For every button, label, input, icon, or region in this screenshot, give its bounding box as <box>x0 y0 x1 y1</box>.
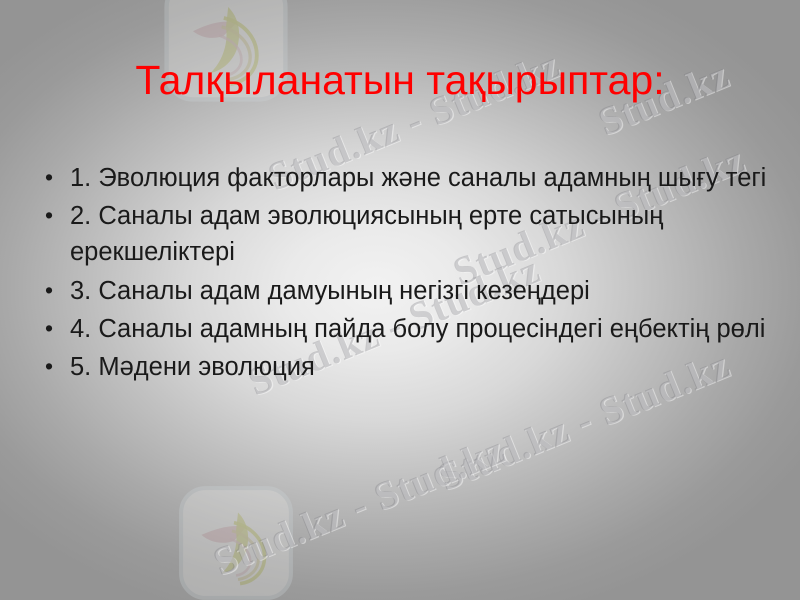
list-item-label: 3. Саналы адам дамуының негізгі кезеңдер… <box>70 273 770 309</box>
stud-kz-hummingbird-logo-icon <box>175 482 297 600</box>
bullet-marker-icon: • <box>36 273 70 309</box>
list-item-label: 1. Эволюция факторлары және саналы адамн… <box>70 160 770 196</box>
list-item: • 1. Эволюция факторлары және саналы ада… <box>36 160 776 196</box>
list-item-label: 5. Мәдени эволюция <box>70 349 770 385</box>
list-item-label: 4. Саналы адамның пайда болу процесіндег… <box>70 311 770 347</box>
watermark-text: Stud.kz - Stud.kz <box>206 425 511 585</box>
list-item: • 3. Саналы адам дамуының негізгі кезеңд… <box>36 273 776 309</box>
list-item: • 5. Мәдени эволюция <box>36 349 776 385</box>
presentation-slide: Stud.kz - Stud.kz Stud.kz - Stud.kz Stud… <box>0 0 800 600</box>
bullet-marker-icon: • <box>36 311 70 347</box>
bullet-marker-icon: • <box>36 349 70 385</box>
slide-title: Талқыланатын тақырыптар: <box>0 58 800 103</box>
bullet-marker-icon: • <box>36 160 70 196</box>
list-item-label: 2. Саналы адам эволюциясының ерте сатысы… <box>70 198 770 270</box>
bullet-marker-icon: • <box>36 198 70 234</box>
slide-bullet-list: • 1. Эволюция факторлары және саналы ада… <box>36 160 776 387</box>
list-item: • 2. Саналы адам эволюциясының ерте саты… <box>36 198 776 270</box>
list-item: • 4. Саналы адамның пайда болу процесінд… <box>36 311 776 347</box>
